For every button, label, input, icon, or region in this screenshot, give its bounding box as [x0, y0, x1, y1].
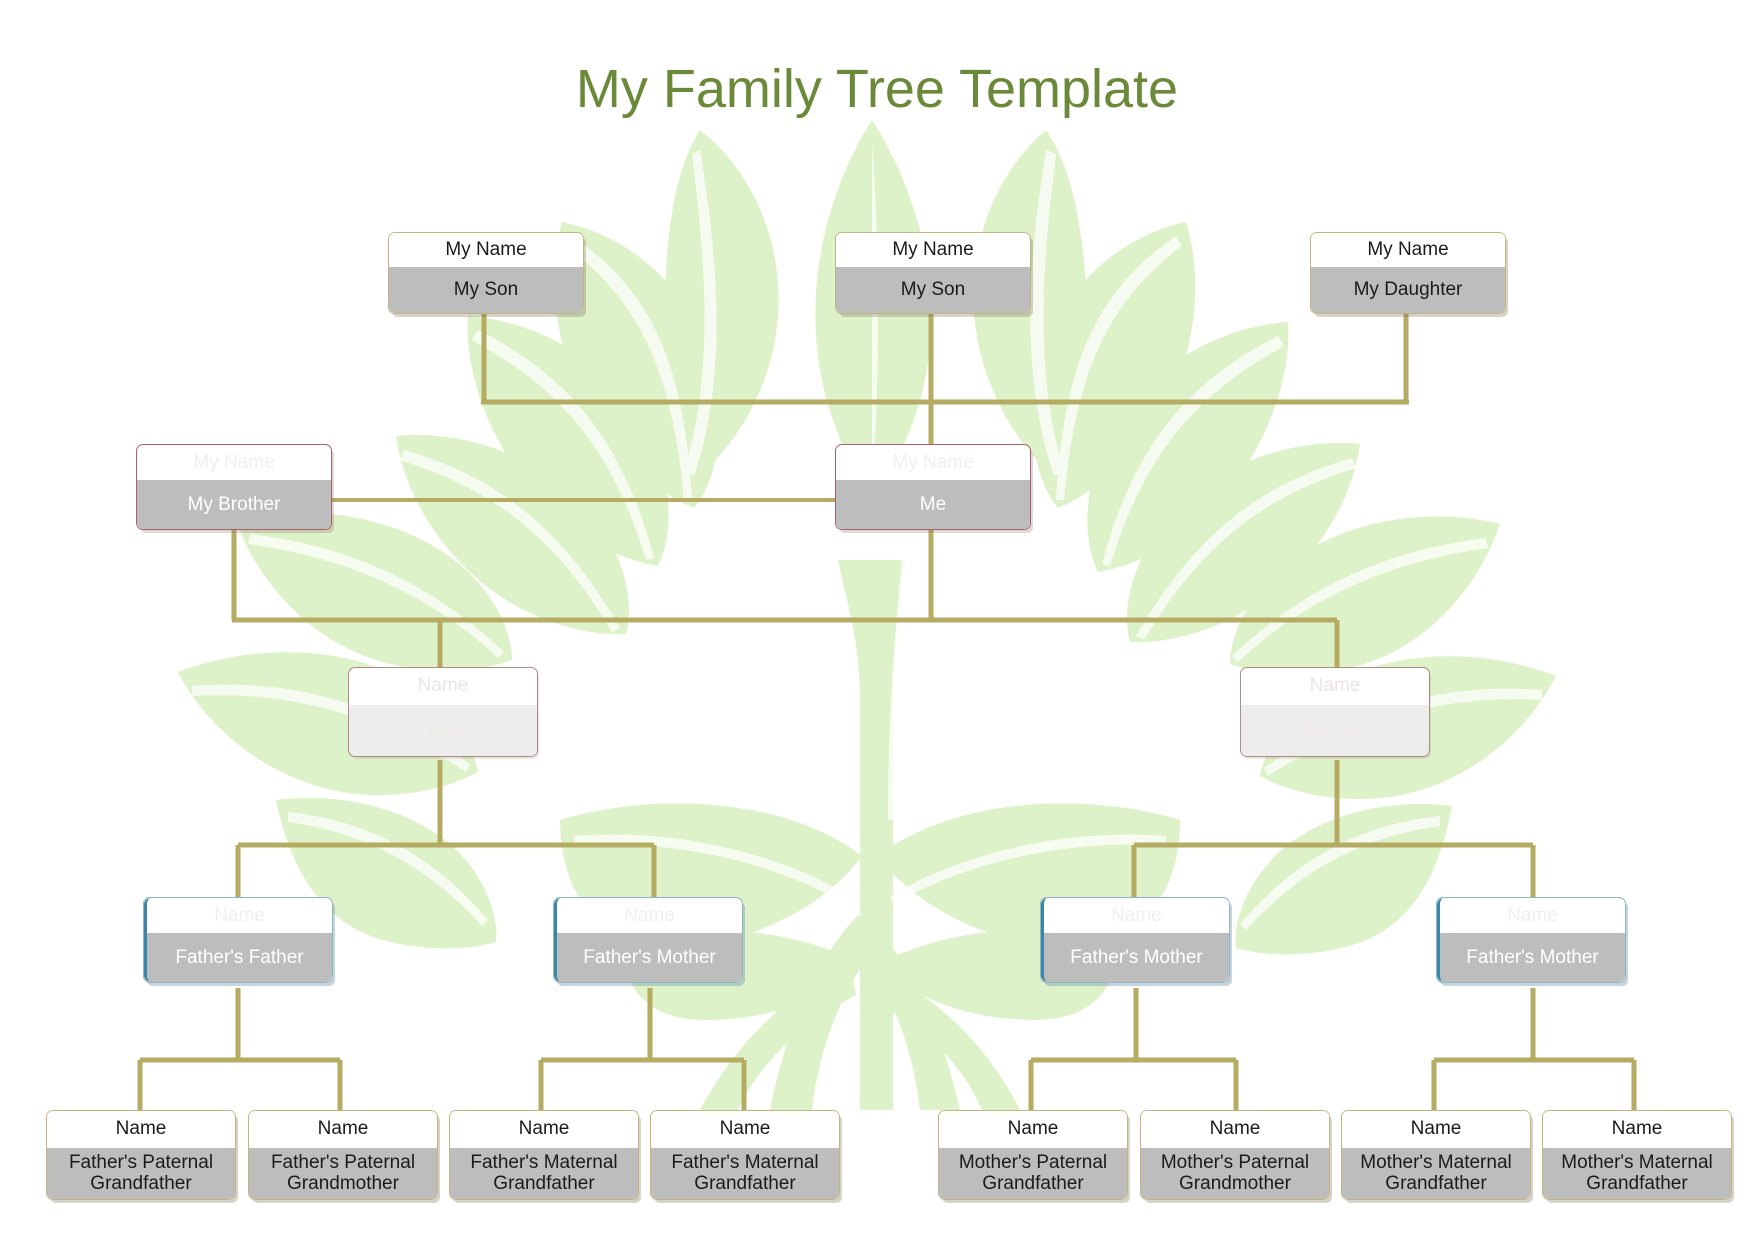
- card-child-2[interactable]: My Name My Son: [835, 232, 1031, 314]
- card-father-name: Name: [349, 668, 537, 705]
- card-child-1-relation: My Son: [389, 267, 583, 313]
- card-great-grandparent-7-name: Name: [1342, 1111, 1530, 1148]
- card-great-grandparent-8[interactable]: Name Mother's Maternal Grandfather: [1542, 1110, 1732, 1200]
- card-grandparent-3-name: Name: [1044, 898, 1229, 933]
- card-child-1-name: My Name: [389, 233, 583, 267]
- card-great-grandparent-6-relation: Mother's Paternal Grandmother: [1141, 1148, 1329, 1199]
- card-great-grandparent-4-relation: Father's Maternal Grandfather: [651, 1148, 839, 1199]
- card-great-grandparent-7[interactable]: Name Mother's Maternal Grandfather: [1341, 1110, 1531, 1200]
- card-grandparent-1-relation: Father's Father: [147, 933, 332, 982]
- card-great-grandparent-8-name: Name: [1543, 1111, 1731, 1148]
- card-great-grandparent-4-name: Name: [651, 1111, 839, 1148]
- card-great-grandparent-2-relation: Father's Paternal Grandmother: [249, 1148, 437, 1199]
- card-grandparent-2[interactable]: Name Father's Mother: [553, 897, 743, 983]
- card-great-grandparent-7-relation: Mother's Maternal Grandfather: [1342, 1148, 1530, 1199]
- card-grandparent-4-relation: Father's Mother: [1440, 933, 1625, 982]
- card-grandparent-1-name: Name: [147, 898, 332, 933]
- card-grandparent-3-relation: Father's Mother: [1044, 933, 1229, 982]
- card-my-brother-name: My Name: [137, 445, 331, 480]
- card-great-grandparent-5[interactable]: Name Mother's Paternal Grandfather: [938, 1110, 1128, 1200]
- card-child-3-name: My Name: [1311, 233, 1505, 267]
- card-grandparent-4-name: Name: [1440, 898, 1625, 933]
- card-grandparent-2-relation: Father's Mother: [557, 933, 742, 982]
- card-me-name: My Name: [836, 445, 1030, 480]
- card-father-relation: Father: [349, 705, 537, 756]
- card-father[interactable]: Name Father: [348, 667, 538, 757]
- card-great-grandparent-1[interactable]: Name Father's Paternal Grandfather: [46, 1110, 236, 1200]
- card-my-brother[interactable]: My Name My Brother: [136, 444, 332, 530]
- page-title: My Family Tree Template: [0, 58, 1754, 120]
- family-tree-canvas: My Family Tree Template My Name My Son M…: [0, 0, 1754, 1240]
- card-mother-name: Name: [1241, 668, 1429, 705]
- card-grandparent-3[interactable]: Name Father's Mother: [1040, 897, 1230, 983]
- card-me-relation: Me: [836, 480, 1030, 529]
- card-great-grandparent-2-name: Name: [249, 1111, 437, 1148]
- card-grandparent-4[interactable]: Name Father's Mother: [1436, 897, 1626, 983]
- card-grandparent-2-name: Name: [557, 898, 742, 933]
- card-me[interactable]: My Name Me: [835, 444, 1031, 530]
- card-great-grandparent-8-relation: Mother's Maternal Grandfather: [1543, 1148, 1731, 1199]
- card-child-3[interactable]: My Name My Daughter: [1310, 232, 1506, 314]
- card-great-grandparent-6[interactable]: Name Mother's Paternal Grandmother: [1140, 1110, 1330, 1200]
- card-great-grandparent-1-relation: Father's Paternal Grandfather: [47, 1148, 235, 1199]
- card-great-grandparent-3-name: Name: [450, 1111, 638, 1148]
- card-great-grandparent-3[interactable]: Name Father's Maternal Grandfather: [449, 1110, 639, 1200]
- card-great-grandparent-3-relation: Father's Maternal Grandfather: [450, 1148, 638, 1199]
- card-child-2-name: My Name: [836, 233, 1030, 267]
- connector-lines: [0, 0, 1754, 1240]
- card-child-3-relation: My Daughter: [1311, 267, 1505, 313]
- card-mother[interactable]: Name Mother: [1240, 667, 1430, 757]
- card-my-brother-relation: My Brother: [137, 480, 331, 529]
- card-child-2-relation: My Son: [836, 267, 1030, 313]
- card-grandparent-1[interactable]: Name Father's Father: [143, 897, 333, 983]
- card-great-grandparent-5-relation: Mother's Paternal Grandfather: [939, 1148, 1127, 1199]
- card-great-grandparent-1-name: Name: [47, 1111, 235, 1148]
- card-great-grandparent-5-name: Name: [939, 1111, 1127, 1148]
- card-great-grandparent-6-name: Name: [1141, 1111, 1329, 1148]
- card-mother-relation: Mother: [1241, 705, 1429, 756]
- tree-background-illustration: [0, 0, 1754, 1240]
- card-great-grandparent-4[interactable]: Name Father's Maternal Grandfather: [650, 1110, 840, 1200]
- card-child-1[interactable]: My Name My Son: [388, 232, 584, 314]
- card-great-grandparent-2[interactable]: Name Father's Paternal Grandmother: [248, 1110, 438, 1200]
